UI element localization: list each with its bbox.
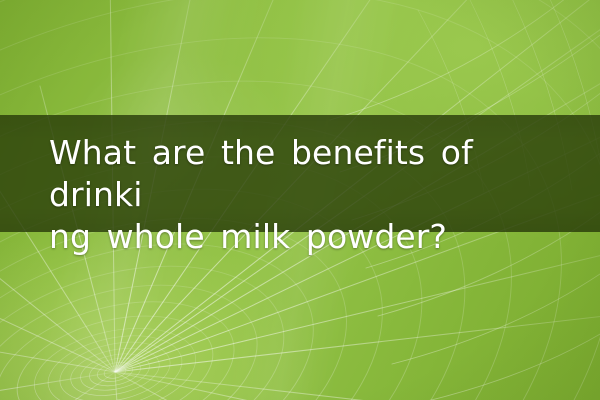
headline-text: What are the benefits of drinki ng whole…: [0, 115, 600, 232]
poster-image: What are the benefits of drinki ng whole…: [0, 0, 600, 400]
